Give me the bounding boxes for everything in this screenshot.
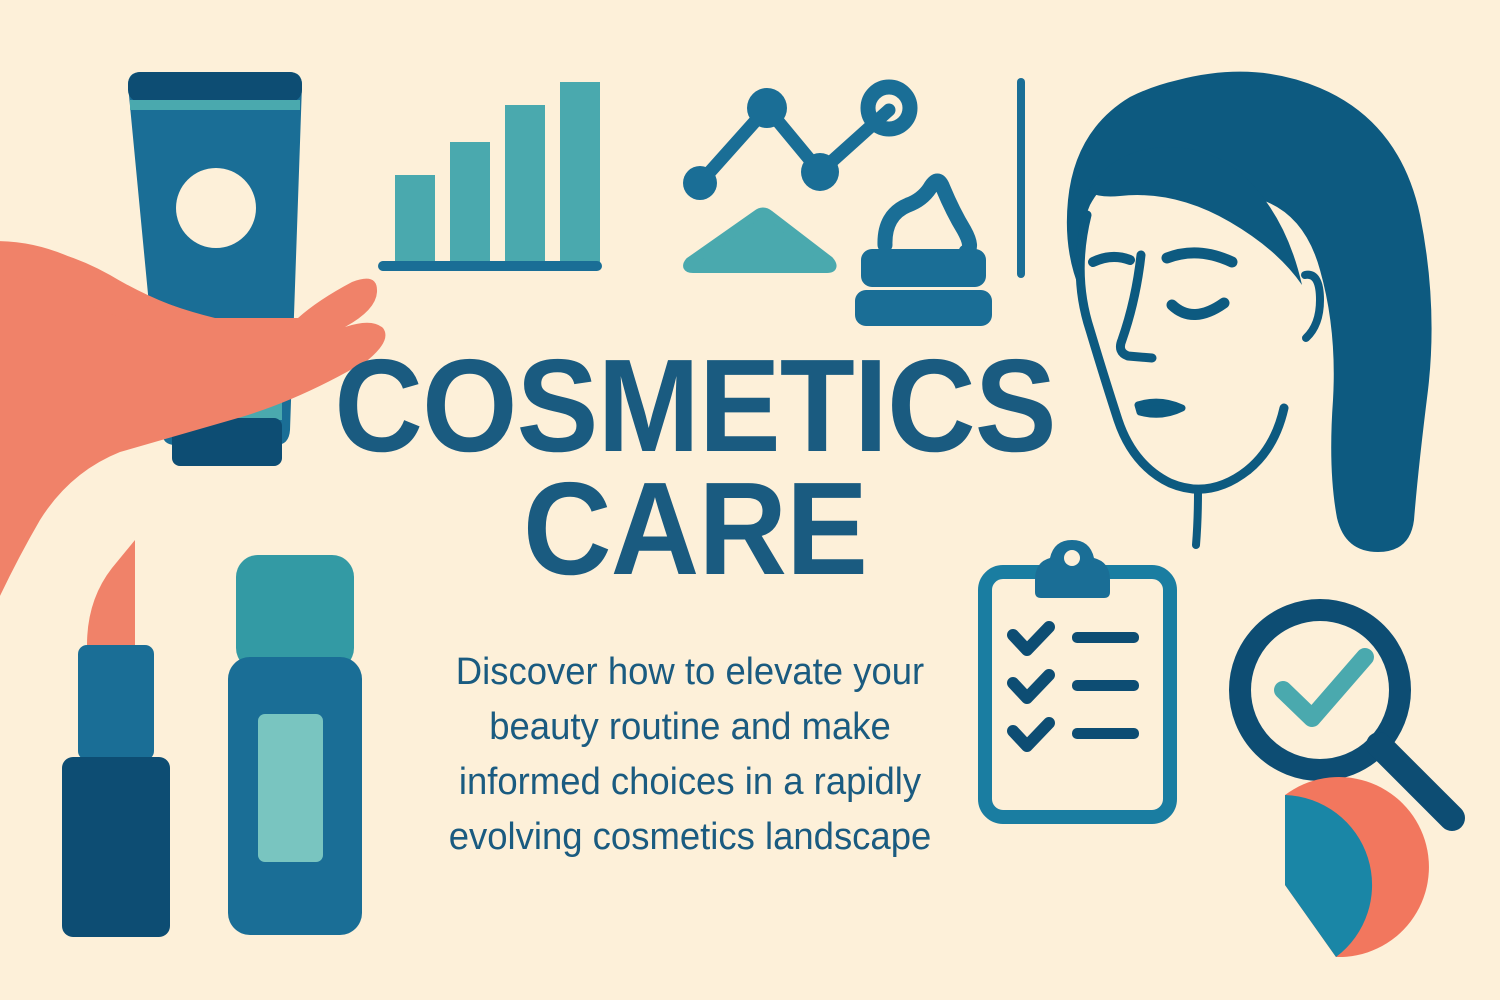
cream-dollop (885, 181, 970, 252)
bar-1 (395, 175, 435, 263)
ear (1305, 275, 1320, 338)
title-line-primary: COSMETICS (328, 345, 1063, 468)
brow-near (1093, 257, 1130, 262)
page-title: COSMETICS CARE (300, 345, 1090, 591)
neck-line (1196, 492, 1198, 545)
clipboard-line-1 (1072, 632, 1139, 643)
cosmetic-bottle-icon (228, 555, 362, 935)
trend-line-chart (683, 87, 910, 200)
clipboard-check-3 (1013, 723, 1049, 746)
trend-line-path (700, 108, 889, 183)
bar-2 (450, 142, 490, 263)
magnifier-check (1283, 657, 1365, 718)
cream-jar-icon (855, 181, 992, 326)
area-shape (688, 213, 831, 269)
hair (1067, 72, 1432, 552)
bar-4 (560, 82, 600, 263)
lips (1138, 402, 1182, 414)
lipstick-tip (87, 540, 135, 648)
tube-dot-logo (176, 168, 256, 248)
tube-stripe (130, 100, 300, 110)
clipboard-line-2 (1072, 680, 1139, 691)
bar-chart-axis (378, 261, 602, 271)
closed-eye (1172, 303, 1224, 315)
clipboard-check-2 (1013, 675, 1049, 698)
growth-bar-chart (378, 82, 602, 271)
tube-neck-band (128, 72, 302, 102)
face-jaw (1248, 408, 1284, 470)
lipstick-icon (62, 540, 170, 937)
jar-base (855, 290, 992, 326)
clipboard-frame (985, 572, 1170, 817)
lipstick-base (62, 757, 170, 937)
clipboard-line-3 (1072, 728, 1139, 739)
trend-point-2 (747, 88, 787, 128)
bar-3 (505, 105, 545, 263)
subtitle-text: Discover how to elevate your beauty rout… (416, 645, 963, 865)
brow-far (1167, 253, 1232, 262)
woman-face-profile-icon (1067, 72, 1432, 552)
trend-point-3 (801, 153, 839, 191)
share-pie-chart-icon (1285, 777, 1429, 957)
poster-canvas: COSMETICS CARE Discover how to elevate y… (0, 0, 1500, 1000)
clipboard-check-1 (1013, 627, 1049, 650)
nose (1120, 255, 1152, 358)
jar-lid (861, 249, 986, 287)
area-peak-chart (688, 213, 831, 269)
bottle-label (258, 714, 323, 862)
trend-point-1 (683, 166, 717, 200)
lipstick-barrel (78, 645, 154, 760)
title-line-secondary: CARE (328, 468, 1063, 591)
